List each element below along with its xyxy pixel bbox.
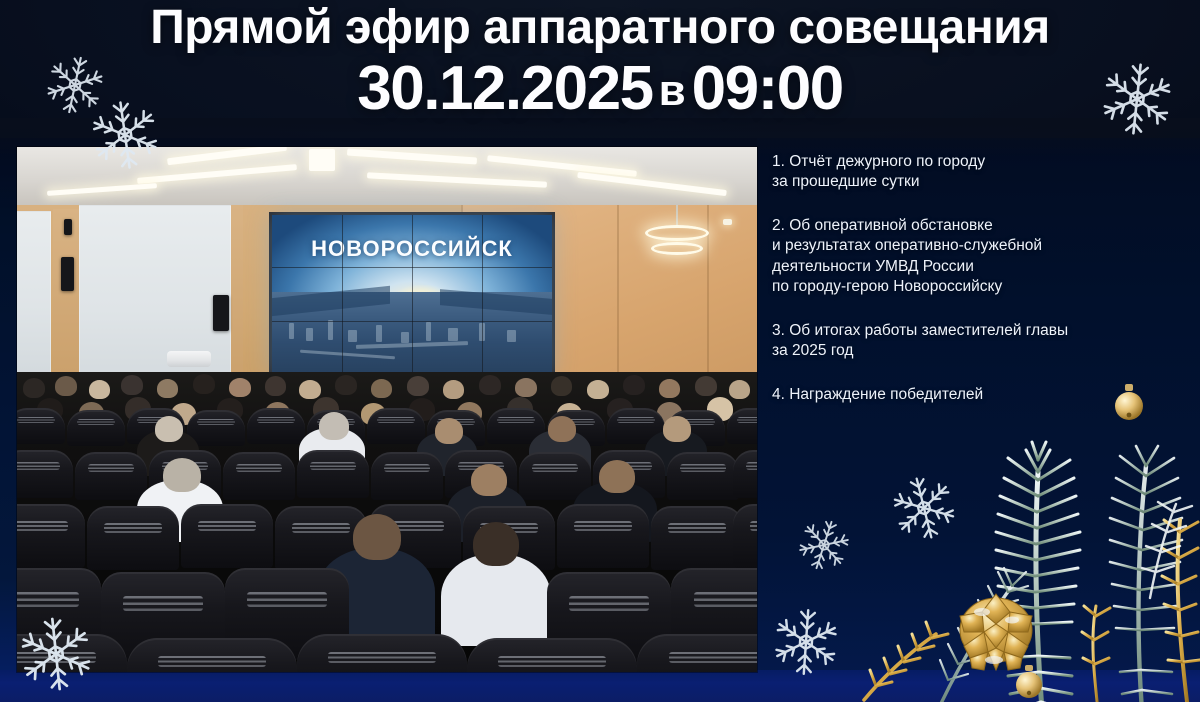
auditorium-seat: [297, 634, 467, 672]
spotlight: [723, 219, 732, 225]
speaker-icon: [64, 219, 72, 235]
poster-title: Прямой эфир аппаратного совещания: [0, 2, 1200, 54]
poster-date: 30.12.2025: [357, 54, 652, 123]
audience-head: [587, 380, 609, 399]
broadcast-announcement-poster: Прямой эфир аппаратного совещания 30.12.…: [0, 0, 1200, 702]
auditorium-seat: [223, 452, 295, 500]
auditorium-seat: [87, 506, 179, 570]
led-building: [507, 330, 516, 342]
agenda-item-4: 4. Награждение победителей: [772, 385, 1182, 405]
audience-head: [435, 418, 463, 444]
poster-datetime: 30.12.2025в09:00: [0, 56, 1200, 121]
led-building: [289, 323, 294, 339]
agenda-item-3: 3. Об итогах работы заместителей главы з…: [772, 321, 1182, 362]
audience-head: [695, 376, 717, 396]
audience-head: [55, 376, 77, 396]
auditorium-seat: [297, 450, 369, 498]
audience-head: [229, 378, 251, 397]
led-bezel-seam: [482, 215, 483, 375]
audience-head: [319, 412, 349, 440]
audience-head: [89, 380, 110, 399]
audience-head: [473, 522, 519, 566]
led-video-wall: НОВОРОССИЙСК: [272, 215, 552, 375]
led-building: [376, 325, 382, 342]
wall-speaker: [213, 295, 229, 331]
audience-head: [407, 376, 429, 396]
auditorium-seat: [727, 408, 757, 444]
led-building: [448, 328, 458, 341]
auditorium-seat: [17, 634, 127, 672]
auditorium-seat: [637, 634, 757, 672]
auditorium-seat: [127, 638, 297, 672]
audience-head: [335, 375, 357, 395]
auditorium-seat: [667, 452, 739, 500]
agenda-list: 1. Отчёт дежурного по городу за прошедши…: [772, 152, 1182, 405]
auditorium-seat: [17, 450, 73, 498]
auditorium-seat: [67, 410, 125, 446]
audience-head: [371, 379, 392, 398]
poster-conjunction: в: [653, 66, 692, 115]
ceiling-light: [309, 149, 335, 171]
auditorium-seat: [17, 504, 85, 568]
poster-time: 09:00: [692, 54, 843, 123]
led-building: [426, 322, 431, 341]
auditorium-seat: [17, 408, 65, 444]
led-road: [300, 350, 395, 360]
audience-head: [471, 464, 507, 496]
agenda-item-2: 2. Об оперативной обстановке и результат…: [772, 216, 1182, 298]
led-building: [306, 328, 313, 341]
audience-head: [663, 416, 691, 442]
audience-area: [17, 372, 757, 672]
audience-head: [299, 380, 321, 399]
auditorium-seat: [733, 504, 757, 568]
wall-speaker: [61, 257, 74, 291]
auditorium-seat: [557, 504, 649, 568]
audience-head: [157, 379, 178, 398]
lamp-stem: [676, 205, 678, 227]
audience-head: [193, 374, 215, 394]
auditorium-seat: [247, 408, 305, 444]
meeting-hall-photo: НОВОРОССИЙСК: [17, 147, 757, 672]
air-conditioner: [167, 351, 211, 367]
audience-head: [23, 378, 45, 398]
auditorium-seat: [181, 504, 273, 568]
auditorium-seat: [733, 450, 757, 498]
led-building: [348, 330, 357, 342]
audience-head: [599, 460, 635, 493]
led-bezel-seam: [412, 215, 413, 375]
audience-head: [121, 375, 143, 395]
audience-head: [623, 375, 645, 395]
ring-lamp: [651, 242, 703, 255]
auditorium-seat: [651, 506, 743, 570]
led-building: [401, 332, 409, 343]
audience-head: [155, 416, 183, 442]
audience-head: [163, 458, 201, 492]
audience-head: [443, 380, 464, 399]
audience-head: [551, 376, 572, 396]
audience-head: [479, 375, 501, 395]
led-bezel-seam: [342, 215, 343, 375]
auditorium-seat: [367, 408, 425, 444]
audience-person-white-shirt: [441, 554, 551, 646]
led-hill: [440, 289, 552, 315]
bottom-strip: [0, 670, 1200, 702]
poster-title-block: Прямой эфир аппаратного совещания 30.12.…: [0, 2, 1200, 121]
audience-head: [353, 514, 401, 560]
audience-head: [515, 378, 537, 397]
auditorium-seat: [75, 452, 147, 500]
auditorium-seat: [467, 638, 637, 672]
led-building: [328, 320, 333, 340]
agenda-item-1: 1. Отчёт дежурного по городу за прошедши…: [772, 152, 1182, 193]
audience-head: [729, 380, 750, 399]
audience-head: [265, 376, 286, 396]
audience-head: [548, 416, 576, 442]
audience-head: [659, 379, 680, 398]
auditorium-seat: [371, 452, 443, 500]
ring-lamp: [645, 225, 709, 241]
